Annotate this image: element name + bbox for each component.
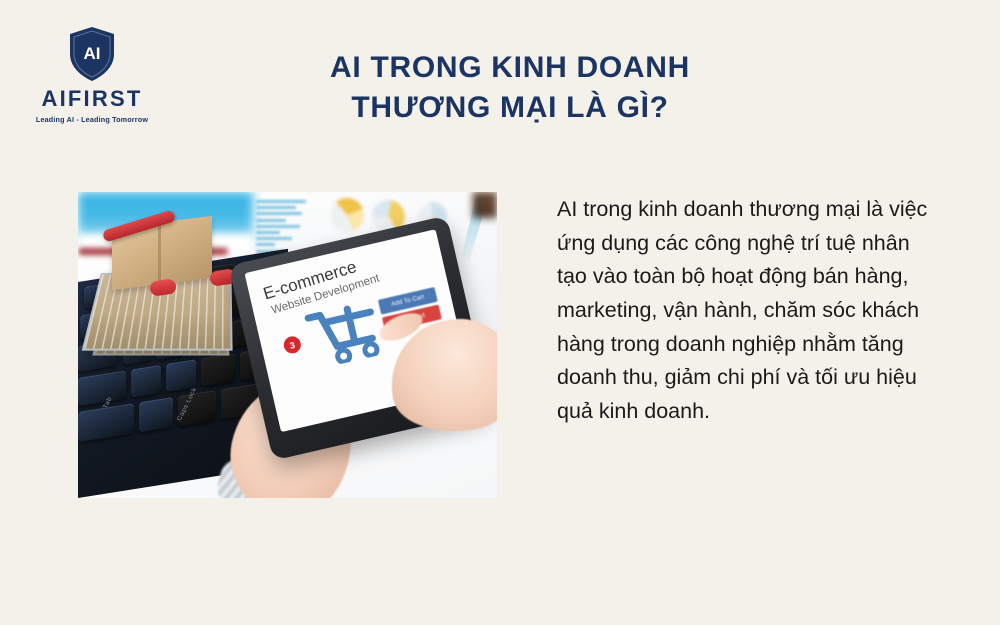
brand-logo: AI AIFIRST Leading AI - Leading Tomorrow xyxy=(22,26,162,124)
shield-ai-icon: AI xyxy=(68,26,116,82)
photo-mini-shopping-cart xyxy=(84,214,256,382)
ecommerce-tablet-photo: Tab Caps Lock Shift E-commerce Website D… xyxy=(78,192,497,498)
photo-pie-chart-1 xyxy=(330,198,364,232)
body-paragraph: AI trong kinh doanh thương mại là việc ứ… xyxy=(557,193,937,428)
cart-count-badge: 3 xyxy=(282,335,302,355)
photo-brown-blur xyxy=(473,192,497,218)
shopping-cart-icon xyxy=(303,297,388,370)
page-title: AI TRONG KINH DOANH THƯƠNG MẠI LÀ GÌ? xyxy=(200,48,820,128)
page-title-line-2: THƯƠNG MẠI LÀ GÌ? xyxy=(200,88,820,128)
page-title-line-1: AI TRONG KINH DOANH xyxy=(200,48,820,88)
brand-tagline: Leading AI - Leading Tomorrow xyxy=(22,115,162,124)
shield-label: AI xyxy=(84,44,101,63)
brand-wordmark: AIFIRST xyxy=(22,86,162,112)
